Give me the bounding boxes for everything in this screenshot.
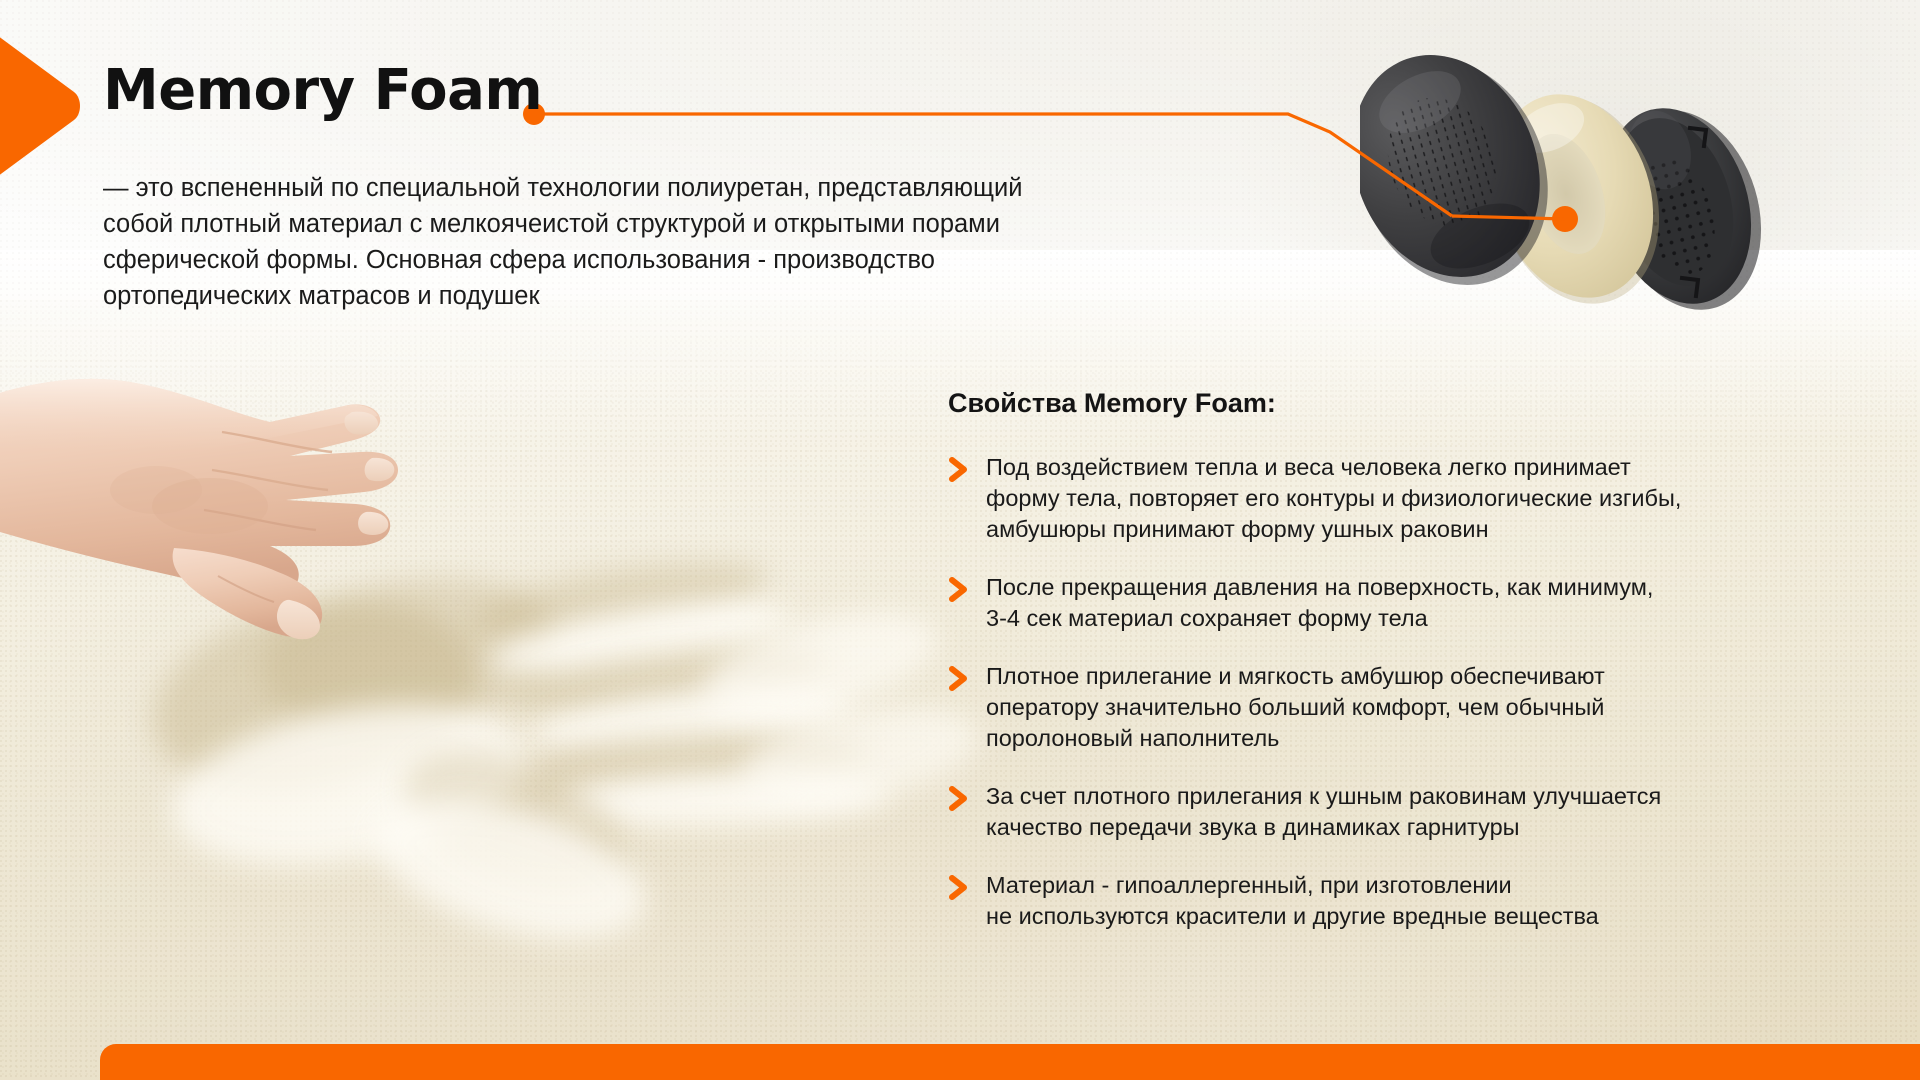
intro-line-1: — это вспененный по специальной технолог… — [103, 170, 1223, 206]
intro-line-2: собой плотный материал с мелкоячеистой с… — [103, 206, 1223, 242]
chevron-right-icon — [948, 572, 982, 603]
list-item-text: Материал - гипоаллергенный, при изготовл… — [982, 870, 1599, 932]
properties-list: Под воздействием тепла и веса человека л… — [948, 452, 1878, 959]
list-item-text: За счет плотного прилегания к ушным рако… — [982, 781, 1661, 843]
chevron-right-icon — [948, 452, 982, 483]
chevron-right-icon — [948, 870, 982, 901]
slide-memory-foam: Memory Foam — это вспененный по специаль… — [0, 0, 1920, 1080]
list-item: После прекращения давления на поверхност… — [948, 572, 1878, 634]
chevron-right-icon — [948, 661, 982, 692]
list-item: За счет плотного прилегания к ушным рако… — [948, 781, 1878, 843]
intro-line-3: сферической формы. Основная сфера исполь… — [103, 242, 1223, 278]
orange-footer-bar — [100, 1044, 1920, 1080]
list-item: Плотное прилегание и мягкость амбушюр об… — [948, 661, 1878, 754]
intro-line-4: ортопедических матрасов и подушек — [103, 278, 1223, 314]
properties-heading: Свойства Memory Foam: — [948, 388, 1276, 419]
page-title: Memory Foam — [103, 58, 542, 123]
list-item-text: Под воздействием тепла и веса человека л… — [982, 452, 1681, 545]
list-item: Материал - гипоаллергенный, при изготовл… — [948, 870, 1878, 932]
list-item-text: Плотное прилегание и мягкость амбушюр об… — [982, 661, 1605, 754]
earpad-exploded-diagram — [1360, 10, 1780, 410]
list-item-text: После прекращения давления на поверхност… — [982, 572, 1653, 634]
intro-paragraph: — это вспененный по специальной технолог… — [103, 170, 1223, 314]
corner-arrow-icon — [0, 30, 92, 182]
list-item: Под воздействием тепла и веса человека л… — [948, 452, 1878, 545]
hand-illustration — [0, 300, 600, 660]
chevron-right-icon — [948, 781, 982, 812]
